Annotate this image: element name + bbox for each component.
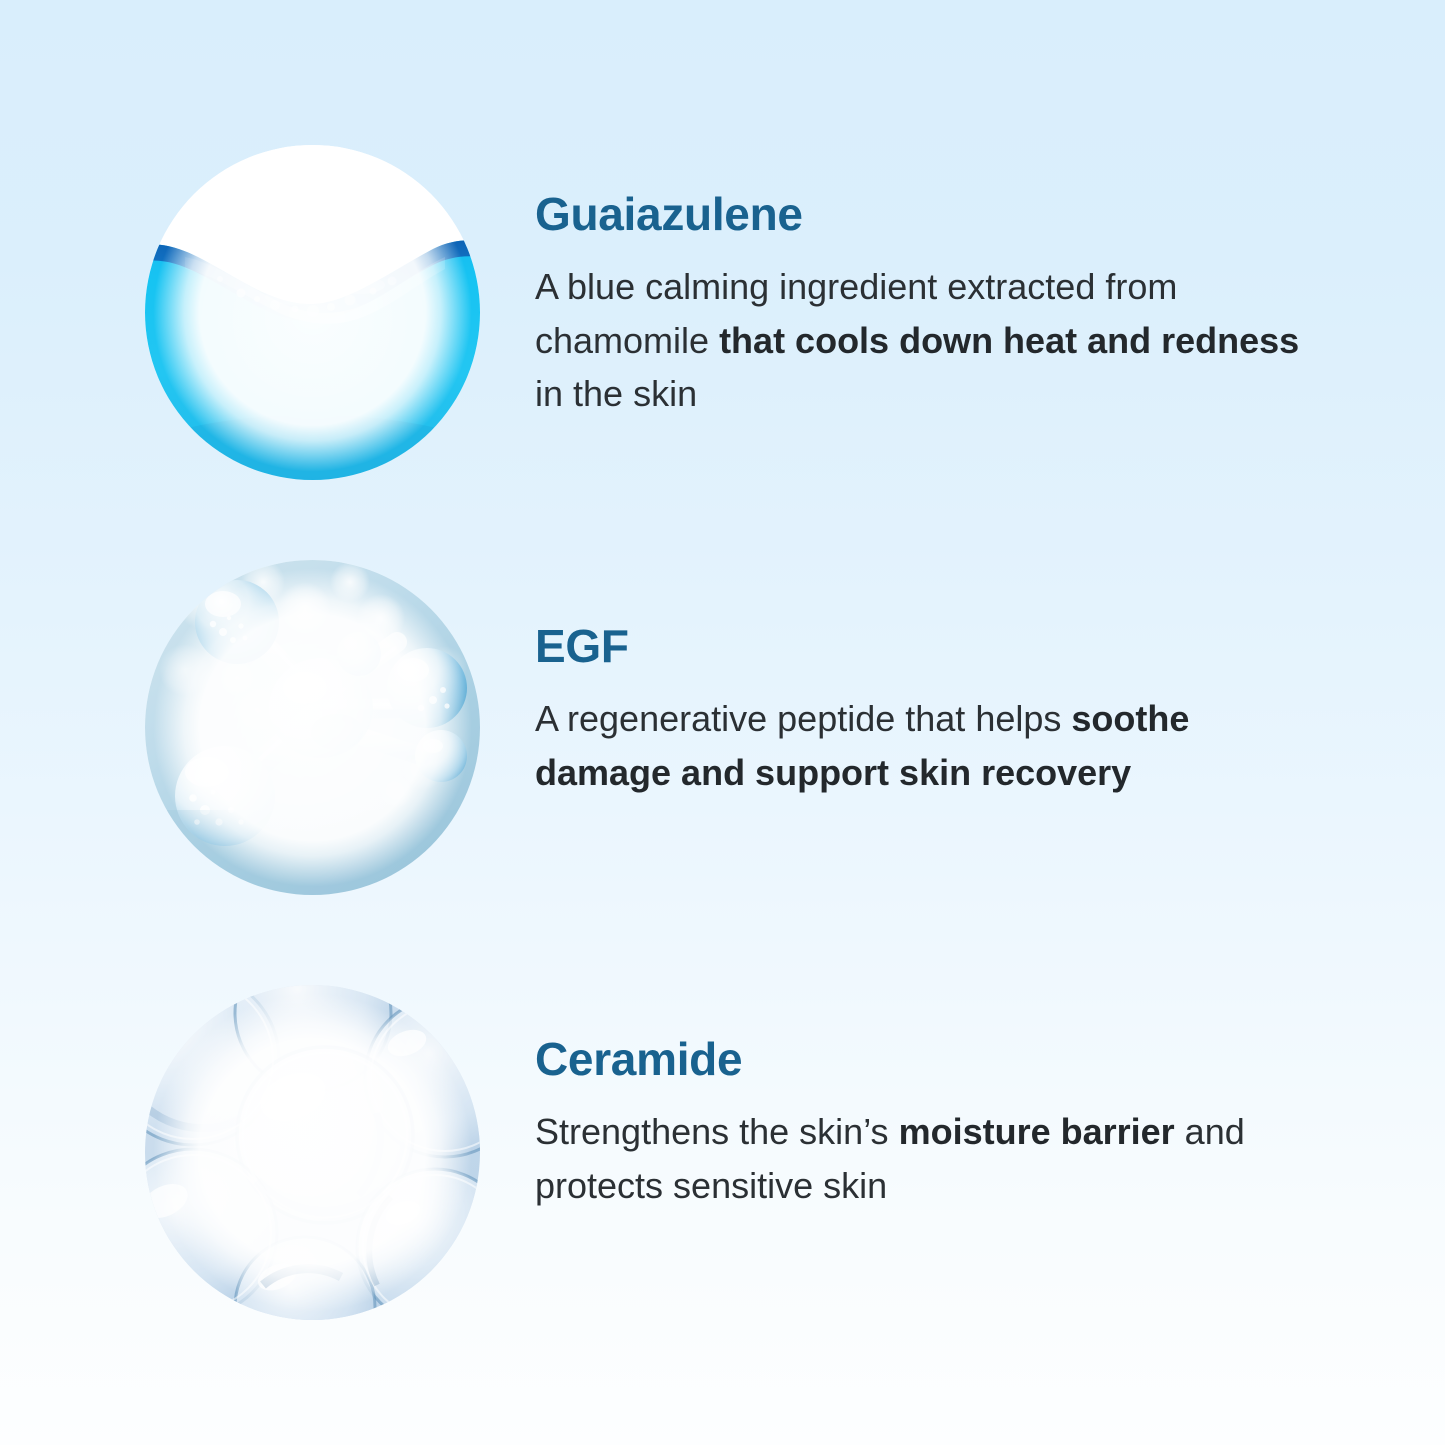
desc-part: in the skin bbox=[535, 373, 697, 414]
ingredient-description: Strengthens the skin’s moisture barrier … bbox=[535, 1105, 1335, 1212]
ingredient-image-wrap bbox=[145, 985, 480, 1320]
desc-part-emphasis: moisture barrier bbox=[899, 1111, 1175, 1152]
ingredient-title: Ceramide bbox=[535, 1035, 1335, 1083]
ingredient-title: EGF bbox=[535, 622, 1335, 670]
ingredient-infographic: Guaiazulene A blue calming ingredient ex… bbox=[0, 0, 1445, 1445]
ingredient-row: Guaiazulene A blue calming ingredient ex… bbox=[0, 145, 1445, 480]
ingredient-text: Guaiazulene A blue calming ingredient ex… bbox=[535, 190, 1445, 420]
ingredient-description: A blue calming ingredient extracted from… bbox=[535, 260, 1335, 420]
ingredient-row: EGF A regenerative peptide that helps so… bbox=[0, 560, 1445, 895]
ingredient-title: Guaiazulene bbox=[535, 190, 1335, 238]
ingredient-row: Ceramide Strengthens the skin’s moisture… bbox=[0, 985, 1445, 1320]
translucent-bubbles-image bbox=[145, 985, 480, 1320]
desc-part-emphasis: that cools down heat and redness bbox=[719, 320, 1299, 361]
ingredient-text: Ceramide Strengthens the skin’s moisture… bbox=[535, 1035, 1445, 1212]
ingredient-text: EGF A regenerative peptide that helps so… bbox=[535, 622, 1445, 799]
molecule-spheres-image bbox=[145, 560, 480, 895]
desc-part: A regenerative peptide that helps bbox=[535, 698, 1071, 739]
ingredient-image-wrap bbox=[145, 145, 480, 480]
desc-part: Strengthens the skin’s bbox=[535, 1111, 899, 1152]
blue-water-wave-image bbox=[145, 145, 480, 480]
ingredient-description: A regenerative peptide that helps soothe… bbox=[535, 692, 1335, 799]
ingredient-image-wrap bbox=[145, 560, 480, 895]
